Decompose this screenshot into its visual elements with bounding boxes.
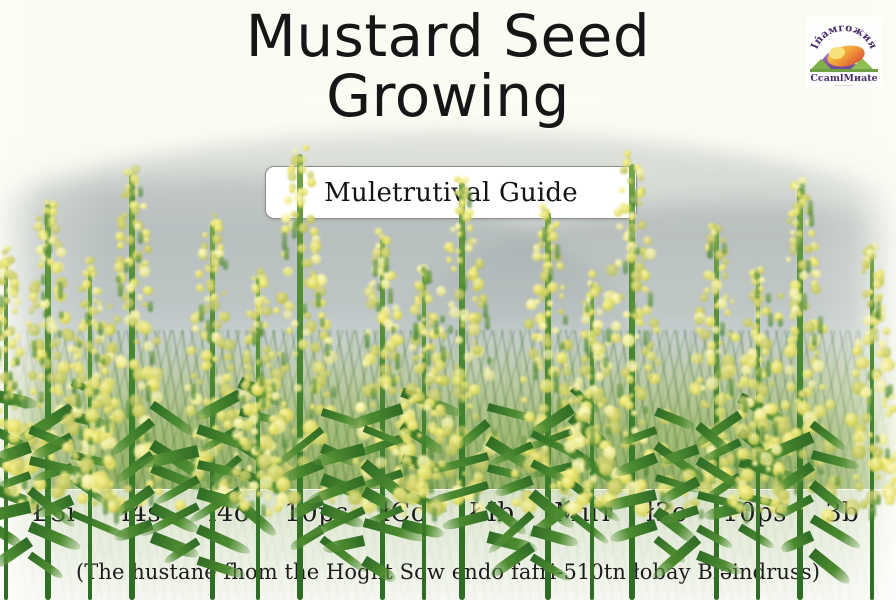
flower-bud [743, 399, 748, 414]
mustard-plant-field [0, 0, 896, 600]
flower-floret [8, 339, 18, 349]
flower-raceme [841, 246, 896, 514]
flower-floret [0, 278, 6, 285]
flower-bud [23, 397, 28, 409]
flower-floret [239, 470, 251, 482]
flower-floret [409, 464, 415, 470]
flower-floret [852, 445, 866, 459]
flower-bud [590, 427, 595, 446]
flower-bud [868, 371, 873, 380]
plant-leaf [361, 556, 398, 585]
flower-bud [755, 289, 760, 299]
flower-floret [521, 397, 527, 403]
flower-floret [8, 432, 20, 444]
flower-floret [860, 500, 868, 508]
plant-leaf [696, 524, 734, 550]
flower-floret [736, 504, 745, 513]
flower-floret [868, 444, 876, 452]
flower-bud [777, 472, 782, 483]
flower-floret [880, 361, 891, 372]
flower-floret [766, 466, 772, 472]
flower-bud [403, 462, 408, 476]
flower-floret [853, 474, 860, 481]
flower-bud [867, 396, 872, 414]
flower-floret [743, 318, 752, 327]
flower-floret [861, 269, 866, 274]
flower-floret [259, 279, 268, 288]
flower-floret [741, 365, 751, 375]
flower-floret [425, 295, 433, 303]
flower-bud [756, 451, 761, 463]
flower-bud [603, 357, 608, 368]
flower-bud [77, 340, 82, 349]
flower-raceme [230, 272, 286, 514]
flower-floret [885, 496, 894, 505]
flower-floret [271, 392, 280, 401]
flower-bud [754, 271, 759, 280]
flower-floret [755, 394, 764, 403]
flower-floret [777, 504, 787, 514]
flower-floret [96, 289, 102, 295]
flower-floret [108, 504, 117, 513]
flower-floret [868, 457, 883, 472]
flower-floret [885, 410, 892, 417]
flower-bud [191, 383, 196, 400]
flower-bud [876, 301, 881, 320]
flower-floret [748, 433, 760, 445]
flower-bud [17, 390, 22, 406]
flower-floret [80, 474, 96, 490]
flower-floret [264, 299, 270, 305]
flower-floret [512, 498, 521, 507]
flower-floret [856, 357, 868, 369]
flower-floret [251, 276, 257, 282]
flower-floret [80, 301, 88, 309]
flower-raceme [396, 266, 452, 514]
flower-floret [873, 280, 882, 289]
flower-floret [15, 462, 24, 471]
flower-floret [861, 413, 871, 423]
flower-floret [596, 308, 604, 316]
flower-floret [256, 491, 262, 497]
flower-floret [252, 285, 261, 294]
flower-floret [0, 407, 2, 416]
flower-floret [771, 444, 782, 455]
flower-bud [429, 479, 434, 494]
flower-floret [239, 500, 250, 511]
flower-bud [607, 506, 612, 519]
flower-floret [103, 455, 114, 466]
flower-bud [261, 504, 266, 517]
flower-floret [12, 308, 18, 314]
flower-floret [598, 402, 604, 408]
flower-floret [82, 443, 96, 457]
flower-floret [738, 485, 754, 501]
flower-floret [759, 357, 764, 362]
flower-floret [593, 327, 602, 336]
flower-floret [276, 457, 282, 463]
flower-floret [407, 491, 421, 505]
flower-floret [265, 494, 271, 500]
flower-bud [95, 353, 100, 362]
flower-floret [0, 362, 1, 368]
flower-floret [440, 411, 446, 417]
flower-floret [430, 427, 437, 434]
flower-raceme [730, 268, 786, 514]
flower-floret [511, 469, 520, 478]
flower-floret [77, 353, 82, 358]
flower-floret [94, 338, 100, 344]
flower-floret [573, 382, 581, 390]
flower-floret [352, 458, 359, 465]
flower-floret [90, 272, 96, 278]
flower-floret [778, 490, 789, 501]
flower-floret [239, 437, 248, 446]
flower-raceme [61, 260, 119, 514]
flower-bud [12, 382, 17, 391]
flower-floret [256, 470, 266, 480]
flower-floret [423, 404, 430, 411]
plant-leaf [197, 556, 248, 580]
mustard-plant [532, 0, 652, 600]
flower-floret [399, 428, 411, 440]
flower-floret [15, 347, 26, 358]
flower-floret [2, 249, 8, 255]
flower-floret [416, 507, 422, 513]
flower-bud [241, 395, 246, 404]
flower-floret [561, 476, 575, 490]
flower-bud [250, 500, 255, 517]
flower-bud [78, 427, 83, 440]
flower-bud [6, 390, 11, 407]
flower-floret [564, 440, 577, 453]
flower-floret [103, 398, 112, 407]
flower-floret [417, 433, 422, 438]
plant-leaf [196, 525, 252, 557]
flower-floret [101, 367, 109, 375]
flower-bud [585, 304, 590, 313]
flower-floret [249, 481, 259, 491]
flower-bud [760, 425, 765, 442]
flower-floret [887, 463, 896, 473]
mustard-plant [30, 0, 150, 600]
flower-floret [241, 381, 250, 390]
flower-floret [419, 489, 429, 499]
flower-bud [584, 338, 589, 354]
flower-floret [248, 366, 253, 371]
flower-floret [409, 344, 416, 351]
flower-floret [414, 281, 423, 290]
flower-bud [766, 360, 771, 377]
flower-floret [868, 289, 874, 295]
flower-bud [876, 495, 881, 506]
flower-bud [434, 320, 439, 335]
flower-bud [190, 463, 195, 472]
flower-floret [755, 301, 761, 307]
flower-floret [401, 512, 406, 517]
flower-floret [256, 454, 270, 468]
flower-bud [590, 373, 595, 384]
flower-floret [68, 439, 74, 445]
plant-leaf [696, 551, 743, 578]
flower-floret [761, 474, 768, 481]
flower-bud [261, 394, 266, 409]
flower-floret [269, 416, 276, 423]
flower-floret [882, 402, 888, 408]
flower-bud [98, 322, 103, 337]
flower-floret [433, 467, 439, 473]
flower-bud [258, 359, 263, 367]
mustard-plant [698, 0, 818, 600]
flower-floret [267, 363, 273, 369]
plant-leaf [28, 552, 65, 581]
flower-floret [763, 443, 768, 448]
flower-floret [3, 297, 10, 304]
flower-floret [92, 500, 98, 506]
flower-floret [737, 382, 744, 389]
flower-bud [585, 462, 590, 471]
flower-floret [84, 271, 90, 277]
flower-bud [85, 312, 90, 324]
mustard-plant [198, 0, 318, 600]
flower-floret [754, 408, 766, 420]
flower-bud [259, 371, 264, 387]
flower-floret [844, 499, 860, 515]
flower-bud [757, 366, 762, 383]
flower-bud [0, 295, 4, 309]
flower-floret [78, 323, 87, 332]
flower-floret [875, 474, 881, 480]
flower-floret [595, 350, 601, 356]
flower-floret [60, 471, 69, 480]
mustard-plant [812, 0, 896, 600]
flower-bud [766, 293, 771, 303]
flower-floret [100, 440, 110, 450]
plant-leaf [695, 422, 733, 455]
flower-floret [190, 373, 197, 380]
flower-floret [855, 482, 864, 491]
flower-floret [436, 376, 443, 383]
flower-floret [607, 479, 623, 495]
flower-bud [72, 378, 77, 394]
flower-bud [88, 437, 93, 445]
flower-floret [421, 329, 428, 336]
flower-bud [274, 488, 279, 495]
flower-bud [252, 332, 257, 346]
flower-floret [604, 405, 615, 416]
flower-floret [761, 348, 769, 356]
flower-bud [255, 441, 260, 452]
flower-floret [81, 465, 90, 474]
flower-floret [434, 360, 445, 371]
flower-floret [268, 424, 279, 435]
flower-floret [2, 346, 9, 353]
flower-floret [238, 487, 249, 498]
flower-floret [737, 448, 749, 460]
flower-floret [251, 312, 258, 319]
flower-floret [435, 434, 445, 444]
flower-bud [768, 313, 773, 328]
flower-floret [883, 327, 891, 335]
flower-floret [78, 286, 84, 292]
flower-floret [93, 309, 99, 315]
flower-floret [573, 396, 582, 405]
flower-bud [414, 324, 419, 339]
plant-leaf [531, 525, 580, 548]
plant-leaf [363, 518, 427, 544]
flower-floret [852, 346, 862, 356]
flower-floret [12, 405, 17, 410]
flower-bud [15, 357, 20, 366]
flower-floret [257, 268, 264, 275]
flower-floret [755, 314, 761, 320]
flower-floret [595, 372, 604, 381]
flower-bud [76, 393, 81, 409]
flower-floret [11, 290, 18, 297]
flower-bud [870, 301, 875, 310]
mustard-plant [364, 0, 484, 600]
flower-bud [424, 270, 429, 284]
flower-bud [72, 468, 77, 476]
flower-bud [8, 371, 13, 382]
flower-floret [419, 353, 425, 359]
flower-bud [869, 507, 874, 521]
flower-bud [77, 476, 82, 486]
flower-bud [580, 421, 585, 432]
flower-floret [568, 492, 573, 497]
flower-bud [875, 435, 880, 443]
plant-leaf [530, 554, 571, 583]
flower-floret [88, 257, 95, 264]
flower-floret [262, 354, 271, 363]
flower-bud [773, 421, 778, 436]
flower-floret [251, 428, 258, 435]
flower-floret [520, 376, 527, 383]
flower-floret [186, 346, 195, 355]
flower-bud [103, 499, 108, 515]
poster-root: Mustard Seed Growing Muletrutival Guide … [0, 0, 896, 600]
flower-floret [438, 460, 446, 468]
flower-bud [432, 507, 437, 522]
flower-bud [259, 328, 264, 337]
flower-bud [0, 320, 2, 336]
flower-floret [412, 355, 419, 362]
flower-floret [229, 491, 239, 501]
flower-floret [408, 397, 415, 404]
flower-floret [77, 493, 88, 504]
flower-floret [869, 333, 878, 342]
flower-floret [424, 376, 434, 386]
flower-floret [13, 298, 21, 306]
flower-floret [860, 390, 867, 397]
flower-bud [101, 358, 106, 365]
flower-floret [868, 432, 873, 437]
flower-bud [426, 349, 431, 366]
flower-bud [0, 346, 1, 361]
flower-floret [759, 277, 765, 283]
flower-floret [566, 501, 580, 515]
flower-floret [85, 389, 94, 398]
flower-floret [588, 270, 596, 278]
flower-floret [62, 414, 75, 427]
flower-floret [71, 450, 78, 457]
flower-bud [885, 448, 890, 459]
flower-floret [278, 502, 283, 507]
flower-raceme [565, 276, 619, 514]
flower-bud [885, 386, 890, 399]
flower-floret [581, 315, 590, 324]
flower-floret [852, 369, 861, 378]
